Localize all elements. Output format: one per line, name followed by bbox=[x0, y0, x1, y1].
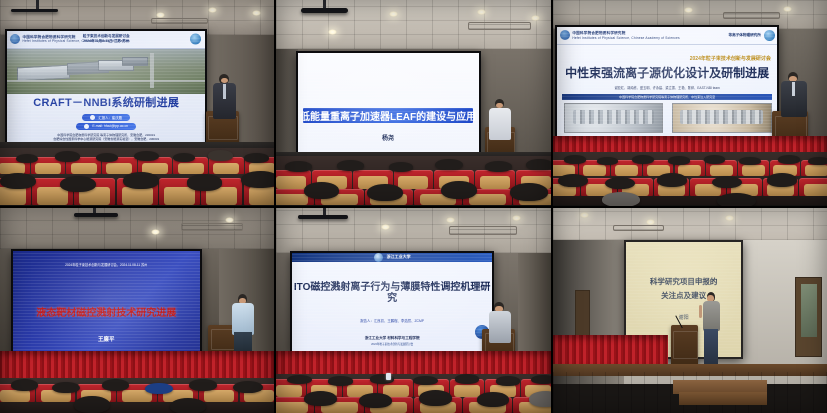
ceiling-projector bbox=[298, 215, 347, 219]
audience-head bbox=[717, 193, 755, 206]
header-text: 2024年粒子束技术创新与发展研讨会，2024.11.08-11 苏州 bbox=[65, 263, 147, 267]
audience-head bbox=[123, 172, 159, 189]
audience-head bbox=[304, 391, 337, 406]
ceiling bbox=[0, 208, 274, 249]
university-logo bbox=[374, 253, 383, 262]
photo-collage: 中国科学院合肥物质科学研究院 Hefei Institutes of Physi… bbox=[0, 0, 827, 413]
audience-head bbox=[241, 171, 274, 188]
downlight bbox=[783, 6, 792, 12]
slide-title-line-1: 科学研究项目申报的 bbox=[650, 278, 718, 287]
beamline-photo bbox=[673, 104, 772, 132]
logo-text: 中国科学院合肥物质科学研究院 Hefei Institutes of Physi… bbox=[572, 31, 679, 39]
building bbox=[17, 64, 70, 81]
slide-body: CRAFT－NNBI系统研制进展 汇报人：崔庆殿 E-mail: hfcui@i… bbox=[7, 94, 205, 144]
phone-screen bbox=[386, 373, 391, 380]
air-vent bbox=[723, 12, 780, 19]
projection-screen: 中国科学院合肥物质科学研究院 Hefei Institutes of Physi… bbox=[5, 29, 207, 146]
audience-head bbox=[668, 156, 690, 165]
speaker-shirt bbox=[223, 84, 226, 99]
event-banner: 2024年粒子束技术创新与发展研讨会 bbox=[557, 45, 776, 65]
slide-header: 中国科学院合肥物质科学研究院 Hefei Institutes of Physi… bbox=[557, 27, 776, 45]
audience-area bbox=[0, 148, 274, 206]
projection-screen: 浙江工业大学 ITO磁控溅射离子行为与薄膜特性调控机理研究 报告人：江良初、王鹏… bbox=[290, 251, 494, 354]
audience-head bbox=[602, 192, 640, 206]
slide-title-bar: 低能量重离子加速器LEAF的建设与应用 bbox=[303, 108, 473, 123]
audience-head bbox=[189, 379, 216, 391]
audience-head bbox=[413, 376, 438, 385]
screen-surface: 浙江工业大学 ITO磁控溅射离子行为与薄膜特性调控机理研究 报告人：江良初、王鹏… bbox=[292, 253, 492, 352]
audience-head bbox=[485, 161, 512, 172]
speaker bbox=[701, 292, 723, 366]
device-photo bbox=[565, 104, 662, 132]
audience-head bbox=[208, 150, 233, 160]
photo-cell-4: 2024年粒子束技术创新与发展研讨会，2024.11.08-11 苏州 液态靶材… bbox=[0, 208, 274, 413]
slide-figures bbox=[557, 103, 776, 135]
audience-head bbox=[496, 376, 521, 385]
ceiling bbox=[276, 0, 550, 49]
person-icon bbox=[90, 115, 95, 120]
audience-head bbox=[328, 376, 353, 385]
building bbox=[122, 57, 148, 66]
air-vent bbox=[613, 225, 664, 231]
audience-head bbox=[134, 151, 159, 161]
audience-head bbox=[359, 393, 392, 408]
road bbox=[7, 80, 205, 81]
ceiling-grid bbox=[553, 208, 827, 241]
speaker-shirt bbox=[792, 82, 795, 96]
downlight bbox=[151, 229, 160, 235]
projection-screen: 2024年粒子束技术创新与发展研讨会，2024.11.08-11 苏州 液态靶材… bbox=[11, 249, 202, 364]
step bbox=[679, 392, 767, 404]
slide-content: 中国科学院合肥物质科学研究院 Hefei Institutes of Physi… bbox=[557, 27, 776, 136]
figure-left bbox=[564, 103, 663, 133]
audience-head bbox=[657, 173, 687, 186]
stage-skirt bbox=[553, 335, 668, 364]
banner-text: 2024年粒子束技术创新与发展研讨会 bbox=[690, 56, 771, 62]
audience-head bbox=[173, 153, 195, 162]
air-vent bbox=[468, 22, 530, 30]
presenter-name: 王廉平 bbox=[98, 336, 115, 344]
slide-title: 低能量重离子加速器LEAF的建设与应用 bbox=[300, 108, 476, 123]
photo-cell-5: 浙江工业大学 ITO磁控溅射离子行为与薄膜特性调控机理研究 报告人：江良初、王鹏… bbox=[276, 208, 550, 413]
audience-head bbox=[597, 157, 619, 165]
presenter-name: 杨尧 bbox=[382, 135, 394, 144]
university-name: 浙江工业大学 bbox=[387, 254, 411, 260]
stage-skirt bbox=[0, 351, 274, 380]
air-vent bbox=[181, 223, 243, 231]
audience-head bbox=[145, 383, 172, 394]
audience-head bbox=[558, 174, 588, 187]
secondary-logo bbox=[190, 34, 201, 45]
slide-header: 浙江工业大学 bbox=[292, 253, 492, 262]
slide-title: 中性束强流离子源优化设计及研制进展 bbox=[557, 67, 776, 81]
audience-head bbox=[55, 151, 80, 161]
audience-head bbox=[441, 181, 477, 199]
air-vent bbox=[151, 18, 208, 24]
right-wall bbox=[518, 253, 551, 360]
slide-title-line-2: 关注点及建议 bbox=[661, 292, 706, 301]
downlight bbox=[225, 217, 234, 223]
figure-right bbox=[672, 103, 773, 133]
audience-head bbox=[233, 381, 263, 394]
slide-title: CRAFT－NNBI系统研制进展 bbox=[33, 97, 179, 110]
audience-head bbox=[419, 390, 452, 406]
logo-text: 中国科学院合肥物质科学研究院 Hefei Institutes of Physi… bbox=[22, 35, 129, 43]
logo-mark bbox=[10, 34, 20, 44]
audience-head bbox=[187, 174, 223, 190]
audience-area bbox=[553, 152, 827, 205]
speaker bbox=[211, 74, 238, 119]
audience-area bbox=[0, 378, 274, 413]
photo-cell-2: 低能量重离子加速器LEAF的建设与应用 杨尧 代表LEAF团队 中国科学院近代物… bbox=[276, 0, 550, 206]
secondary-logo bbox=[764, 30, 775, 41]
audience-head bbox=[712, 176, 742, 189]
audience-head bbox=[0, 173, 36, 189]
audience-area bbox=[276, 374, 550, 413]
audience-head bbox=[96, 153, 118, 162]
screen-surface: 2024年粒子束技术创新与发展研讨会，2024.11.08-11 苏州 液态靶材… bbox=[13, 251, 200, 362]
audience-head bbox=[778, 155, 800, 164]
screen-surface: 中国科学院合肥物质科学研究院 Hefei Institutes of Physi… bbox=[7, 31, 205, 144]
affiliation: 中国科学院合肥物质科学研究院等离子体物理研究所，中性束注入研究室 bbox=[562, 95, 773, 100]
downlight bbox=[389, 11, 398, 17]
audience-head bbox=[102, 379, 129, 391]
audience-head bbox=[60, 176, 96, 192]
audience-head bbox=[367, 184, 403, 201]
audience-head bbox=[739, 157, 761, 165]
audience-head bbox=[605, 177, 635, 190]
audience-head bbox=[287, 375, 312, 384]
audience-head bbox=[52, 382, 79, 394]
door-glass bbox=[801, 284, 817, 337]
seat bbox=[799, 178, 827, 196]
audience-head bbox=[304, 182, 340, 199]
road bbox=[150, 53, 154, 88]
speaker-vest bbox=[703, 301, 721, 331]
footer-text: 2024年粒子束技术创新与发展研讨会 bbox=[371, 343, 413, 346]
downlight bbox=[646, 219, 655, 225]
screen-surface: 低能量重离子加速器LEAF的建设与应用 杨尧 代表LEAF团队 中国科学院近代物… bbox=[298, 53, 479, 154]
logo-mark bbox=[560, 30, 570, 40]
ceiling bbox=[276, 208, 550, 253]
projection-screen: 中国科学院合肥物质科学研究院 Hefei Institutes of Physi… bbox=[555, 25, 778, 138]
slide-title: ITO磁控溅射离子行为与薄膜特性调控机理研究 bbox=[292, 282, 492, 305]
speaker bbox=[780, 72, 807, 117]
presenter-label: 汇报人：崔庆殿 bbox=[98, 115, 122, 120]
speaker-body bbox=[489, 311, 512, 343]
affiliation-bar: 中国科学院合肥物质科学研究院等离子体物理研究所，中性束注入研究室 bbox=[562, 94, 773, 101]
email-label: E-mail: hfcui@ipp.ac.cn bbox=[92, 124, 128, 128]
audience-head bbox=[455, 374, 480, 384]
audience-head bbox=[704, 155, 726, 164]
photo-cell-1: 中国科学院合肥物质科学研究院 Hefei Institutes of Physi… bbox=[0, 0, 274, 206]
audience-head bbox=[767, 173, 797, 186]
seat bbox=[475, 170, 515, 189]
audience-head bbox=[477, 392, 510, 407]
ceiling-projector bbox=[11, 9, 58, 12]
downlight bbox=[381, 224, 390, 230]
audience-head bbox=[632, 155, 654, 164]
stage-skirt bbox=[276, 351, 550, 376]
audience-head bbox=[285, 161, 312, 172]
institute-logo: 中国科学院合肥物质科学研究院 Hefei Institutes of Physi… bbox=[560, 30, 679, 40]
screen-surface: 中国科学院合肥物质科学研究院 Hefei Institutes of Physi… bbox=[557, 27, 776, 136]
audience-head bbox=[808, 157, 827, 165]
author-list: 谢亚红、胡纯栋、盛玉明、许永建、梁立振、王艳、陈烨、EAST-NBI team bbox=[557, 86, 776, 91]
slide-content: 中国科学院合肥物质科学研究院 Hefei Institutes of Physi… bbox=[7, 31, 205, 144]
author-list: 报告人：江良初、王鹏程、李浩然、ZCMP bbox=[292, 319, 492, 324]
photo-cell-6: 科学研究项目申报的 关注点及建议 谢阳 bbox=[553, 208, 827, 413]
slide-footer: 2024年粒子束技术创新与发展研讨会 bbox=[292, 332, 492, 350]
aerial-photo bbox=[7, 49, 205, 94]
speaker bbox=[230, 294, 257, 356]
speaker-body bbox=[489, 108, 511, 140]
slide-content: 低能量重离子加速器LEAF的建设与应用 杨尧 代表LEAF团队 中国科学院近代物… bbox=[298, 53, 479, 154]
slide-header: 中国科学院合肥物质科学研究院 Hefei Institutes of Physi… bbox=[7, 31, 205, 49]
slide-header: 2024年粒子束技术创新与发展研讨会，2024.11.08-11 苏州 bbox=[13, 251, 200, 271]
audience-head bbox=[389, 162, 414, 172]
mail-icon bbox=[84, 124, 89, 129]
ceiling-projector bbox=[301, 8, 348, 13]
seat bbox=[394, 170, 434, 189]
audience-head bbox=[11, 379, 38, 391]
photo-cell-3: 中国科学院合肥物质科学研究院 Hefei Institutes of Physi… bbox=[553, 0, 827, 206]
slide-content: 2024年粒子束技术创新与发展研讨会，2024.11.08-11 苏州 液态靶材… bbox=[13, 251, 200, 362]
audience-head bbox=[16, 154, 38, 163]
downlight bbox=[328, 29, 337, 35]
audience-head bbox=[74, 396, 110, 413]
audience-head bbox=[529, 391, 551, 407]
downlight bbox=[477, 9, 486, 15]
speaker-body bbox=[232, 303, 254, 335]
air-vent bbox=[449, 226, 517, 234]
speaker-arm bbox=[699, 305, 702, 318]
audience-head bbox=[170, 398, 206, 413]
audience-area bbox=[276, 156, 550, 205]
institute-logo: 中国科学院合肥物质科学研究院 Hefei Institutes of Physi… bbox=[10, 34, 129, 44]
audience-head bbox=[510, 183, 548, 201]
email-pill: E-mail: hfcui@ipp.ac.cn bbox=[76, 123, 136, 130]
audience-head bbox=[244, 153, 269, 163]
speaker-jeans bbox=[704, 329, 718, 366]
ceiling bbox=[553, 208, 827, 241]
audience-head bbox=[531, 375, 550, 384]
presenter-name: 谢阳 bbox=[679, 315, 689, 323]
presenter-pill: 汇报人：崔庆殿 bbox=[82, 114, 130, 121]
audience-head bbox=[564, 155, 586, 164]
audience-head bbox=[435, 159, 462, 170]
audience-head bbox=[337, 160, 364, 171]
projection-screen: 低能量重离子加速器LEAF的建设与应用 杨尧 代表LEAF团队 中国科学院近代物… bbox=[296, 51, 481, 156]
secondary-logo-text: 等离子体物理研究所 bbox=[729, 33, 761, 38]
ceiling-projector bbox=[74, 213, 118, 217]
slide-title: 液态靶材磁控溅射技术研究进展 bbox=[36, 308, 176, 320]
speaker bbox=[488, 99, 513, 140]
slide-content: 浙江工业大学 ITO磁控溅射离子行为与薄膜特性调控机理研究 报告人：江良初、王鹏… bbox=[292, 253, 492, 352]
downlight bbox=[512, 215, 521, 221]
audience-head bbox=[526, 159, 551, 170]
speaker bbox=[488, 302, 513, 343]
